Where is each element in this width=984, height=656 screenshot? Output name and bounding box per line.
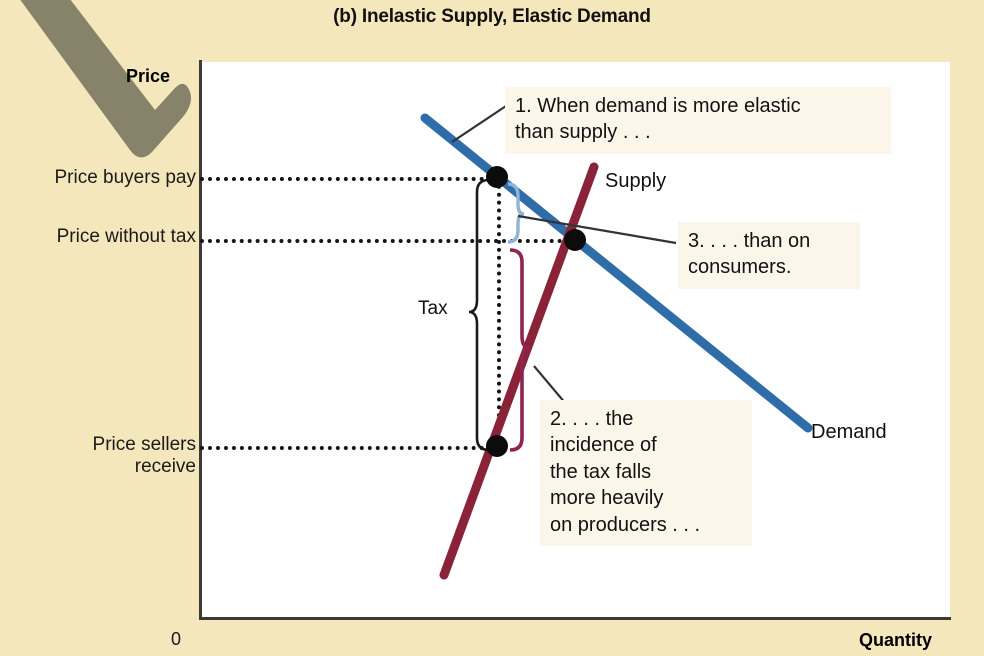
price-label-buyers-pay: Price buyers pay	[54, 167, 196, 189]
guideline-buyers-pay	[200, 177, 500, 181]
origin-label: 0	[171, 629, 181, 650]
guideline-price-without-tax	[200, 239, 578, 243]
callout-box-1: 1. When demand is more elastic than supp…	[505, 87, 891, 154]
guideline-sellers-receive	[200, 446, 500, 450]
x-axis-label: Quantity	[859, 630, 932, 651]
callout-box-3: 3. . . . than on consumers.	[678, 222, 860, 289]
price-label-without-tax: Price without tax	[57, 226, 196, 248]
demand-curve-label: Demand	[811, 421, 887, 444]
y-axis-line	[199, 60, 202, 620]
page-title: (b) Inelastic Supply, Elastic Demand	[0, 6, 984, 28]
x-axis-line	[199, 617, 951, 620]
y-axis-label: Price	[126, 66, 170, 87]
price-label-sellers-receive: Price sellers receive	[93, 434, 196, 479]
supply-curve-label: Supply	[605, 170, 666, 193]
diagram-canvas: (b) Inelastic Supply, Elastic Demand Pri…	[0, 0, 984, 656]
callout-box-2: 2. . . . the incidence of the tax falls …	[540, 400, 752, 546]
tax-bracket-label: Tax	[418, 298, 448, 320]
guideline-quantity-vertical	[497, 177, 501, 449]
